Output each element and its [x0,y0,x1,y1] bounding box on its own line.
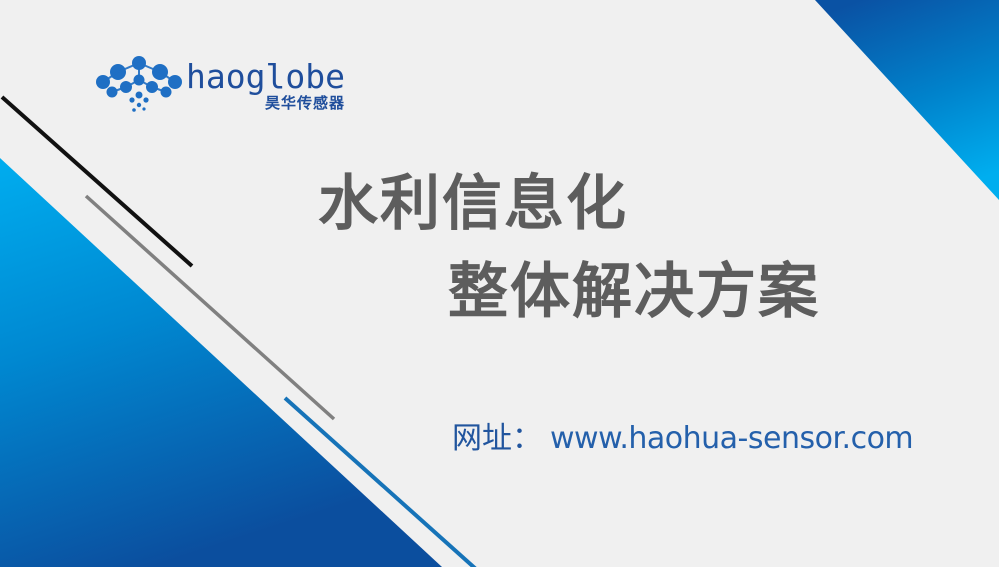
logo-text-group: haoglobe 昊华传感器 [186,56,345,112]
company-logo: haoglobe 昊华传感器 [96,56,326,118]
website-url: 网址： www.haohua-sensor.com [452,418,913,460]
logo-chinese-name: 昊华传感器 [265,95,345,112]
url-value[interactable]: www.haohua-sensor.com [550,418,913,460]
presentation-slide: haoglobe 昊华传感器 水利信息化 整体解决方案 网址： www.haoh… [0,0,999,567]
url-label: 网址： [452,418,542,460]
network-dots-logo-mark-icon [96,56,182,114]
logo-wordmark: haoglobe [186,60,345,94]
